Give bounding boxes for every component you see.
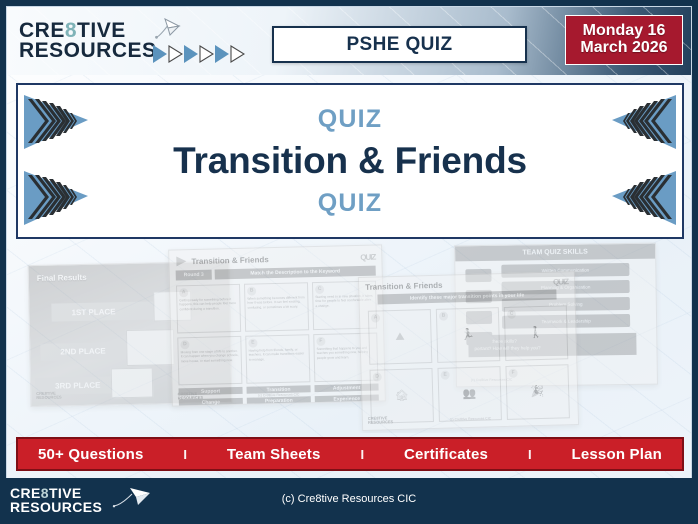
subject-badge-label: PSHE QUIZ: [346, 34, 452, 56]
date-line-2: March 2026: [580, 40, 667, 57]
quiz-stamp: QUIZ: [360, 252, 375, 261]
certificate-thumb-2: [126, 329, 175, 366]
feature-separator: I: [528, 447, 532, 462]
podium-second: 2ND PLACE: [40, 342, 136, 361]
podium-first: 1ST PLACE: [51, 301, 161, 321]
feature-item-certificates: Certificates: [404, 446, 488, 463]
description-card: BWhen something becomes different from h…: [244, 282, 309, 332]
features-banner: 50+ Questions I Team Sheets I Certificat…: [16, 437, 684, 471]
title-kicker-top: QUIZ: [318, 105, 383, 134]
arrow-hollow-2: [199, 45, 214, 63]
slide-watermark-logo: CRE8TIVERESOURCES: [36, 391, 62, 400]
quiz-stamp: QUIZ: [553, 277, 568, 286]
title-panel: QUIZ Transition & Friends QUIZ: [16, 83, 684, 239]
subject-badge: PSHE QUIZ: [272, 26, 527, 63]
title-kicker-bottom: QUIZ: [318, 189, 383, 218]
image-card: E👥: [437, 366, 501, 422]
image-card: A⛰: [368, 309, 432, 365]
arrow-filled-2: [184, 45, 198, 63]
arrow-filled-1: [153, 45, 167, 63]
slide-preview-round-three[interactable]: Transition & Friends QUIZ Round 3 Match …: [168, 244, 386, 406]
keyword-chip: Preparation: [247, 396, 311, 405]
feature-item-lesson-plan: Lesson Plan: [571, 446, 662, 463]
poster-inner: CRE8TIVE RESOURCES PSHE: [6, 6, 692, 484]
skills-heading: TEAM QUIZ SKILLS: [455, 244, 655, 262]
round-slide-title: Transition & Friends: [191, 255, 269, 266]
image-card: F🎉: [505, 364, 569, 420]
slide-preview-transition-points[interactable]: Transition & Friends QUIZ Identify these…: [358, 271, 579, 431]
description-card: EHaving help from friends, family, or te…: [245, 334, 310, 384]
arrow-hollow-1: [168, 45, 183, 63]
play-triangle-icon: [175, 255, 187, 267]
poster-header: CRE8TIVE RESOURCES PSHE: [7, 7, 691, 75]
points-slide-title: Transition & Friends: [365, 281, 443, 292]
feature-item-team-sheets: Team Sheets: [227, 446, 321, 463]
chevron-arrow-icon-right-bottom: [604, 169, 678, 227]
slide-watermark-logo: CRE8TIVERESOURCES: [368, 416, 394, 425]
page-title: Transition & Friends: [173, 140, 527, 182]
poster-footer: CRE8TIVE RESOURCES (c) Cre8tive Resource…: [0, 478, 698, 524]
slide-preview-collage: Final Results 1ST PLACE 2ND PLACE 3RD PL…: [7, 241, 692, 433]
play-arrows-icon: [153, 45, 245, 63]
description-card: AGetting ready for something before it h…: [176, 284, 241, 334]
feature-separator: I: [360, 447, 364, 462]
chevron-arrow-icon-right-top: [604, 93, 678, 151]
arrow-filled-3: [215, 45, 229, 63]
certificate-thumb-3: [111, 368, 154, 399]
footer-copyright: (c) Cre8tive Resources CIC: [0, 493, 698, 505]
feature-separator: I: [183, 447, 187, 462]
image-card: B🏃: [436, 307, 500, 363]
date-badge: Monday 16 March 2026: [565, 15, 683, 65]
paper-plane-icon: [135, 15, 181, 45]
slide-watermark-logo: CRE8TIVERESOURCES: [178, 392, 204, 401]
date-line-1: Monday 16: [583, 23, 666, 40]
quiz-poster: CRE8TIVE RESOURCES PSHE: [0, 0, 698, 524]
image-card: C🚶: [504, 305, 568, 361]
round-label: Round 3: [176, 270, 212, 281]
description-card: DMoving from one stage of life to anothe…: [177, 336, 242, 386]
chevron-arrow-icon-left-top: [22, 93, 96, 151]
chevron-arrow-icon-left-bottom: [22, 169, 96, 227]
slide-copyright: (c) Cre8tive Resources CIC: [450, 416, 492, 421]
results-heading: Final Results: [37, 273, 87, 283]
arrow-hollow-3: [230, 45, 245, 63]
feature-item-questions: 50+ Questions: [38, 446, 144, 463]
